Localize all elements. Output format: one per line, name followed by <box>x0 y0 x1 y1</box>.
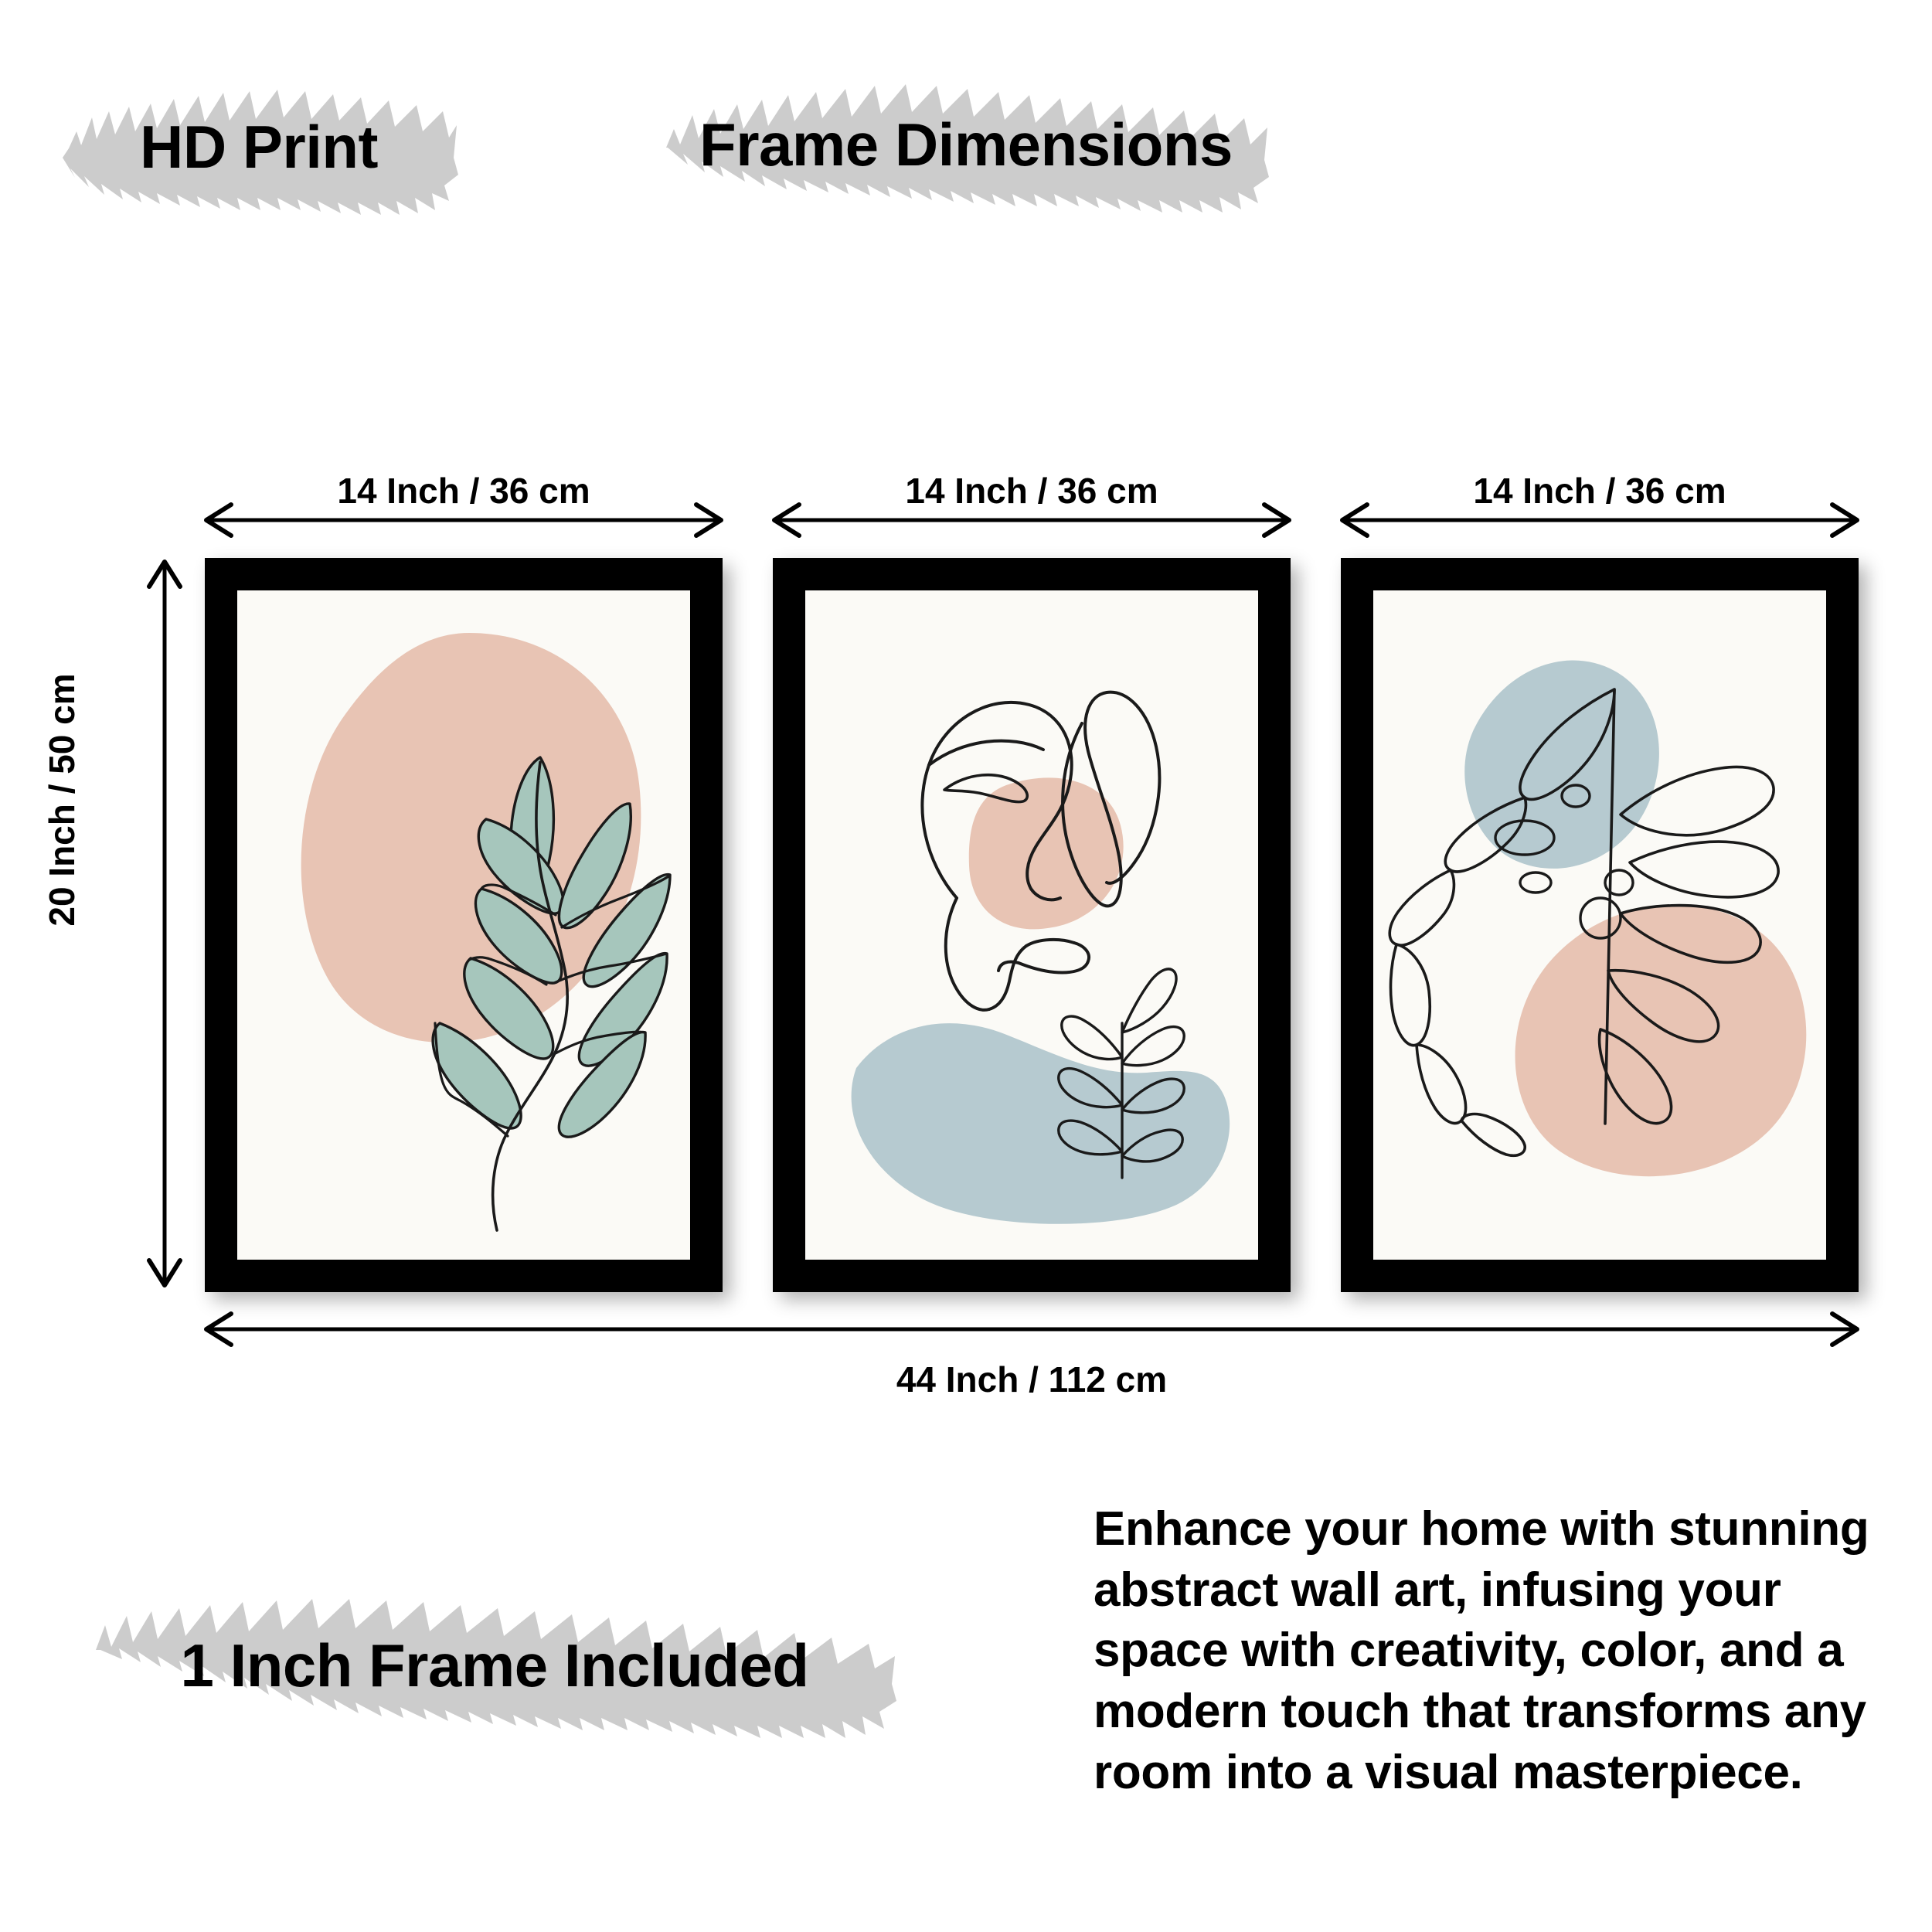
frame-3[interactable] <box>1341 558 1859 1292</box>
badge-hd-print: HD Print <box>58 77 460 216</box>
product-description: Enhance your home with stunning abstract… <box>1094 1499 1874 1804</box>
frame-3-width-arrow <box>1333 498 1866 542</box>
frames-height-arrow <box>143 553 186 1294</box>
frame-3-artwork <box>1373 590 1826 1260</box>
badge-frame-dimensions-label: Frame Dimensions <box>699 110 1233 180</box>
frame-2-width-arrow <box>765 498 1298 542</box>
total-width-arrow <box>197 1308 1866 1351</box>
frame-1-width-arrow <box>197 498 730 542</box>
total-width-label: 44 Inch / 112 cm <box>197 1359 1866 1400</box>
badge-frame-dimensions: Frame Dimensions <box>657 73 1275 216</box>
frame-2-artwork <box>805 590 1258 1260</box>
frame-1[interactable] <box>205 558 723 1292</box>
frame-1-artwork <box>237 590 690 1260</box>
badge-hd-print-label: HD Print <box>140 112 378 182</box>
badge-frame-included-label: 1 Inch Frame Included <box>180 1631 808 1701</box>
frame-2[interactable] <box>773 558 1291 1292</box>
badge-frame-included: 1 Inch Frame Included <box>85 1588 904 1743</box>
frames-height-label: 20 Inch / 50 cm <box>41 614 95 985</box>
